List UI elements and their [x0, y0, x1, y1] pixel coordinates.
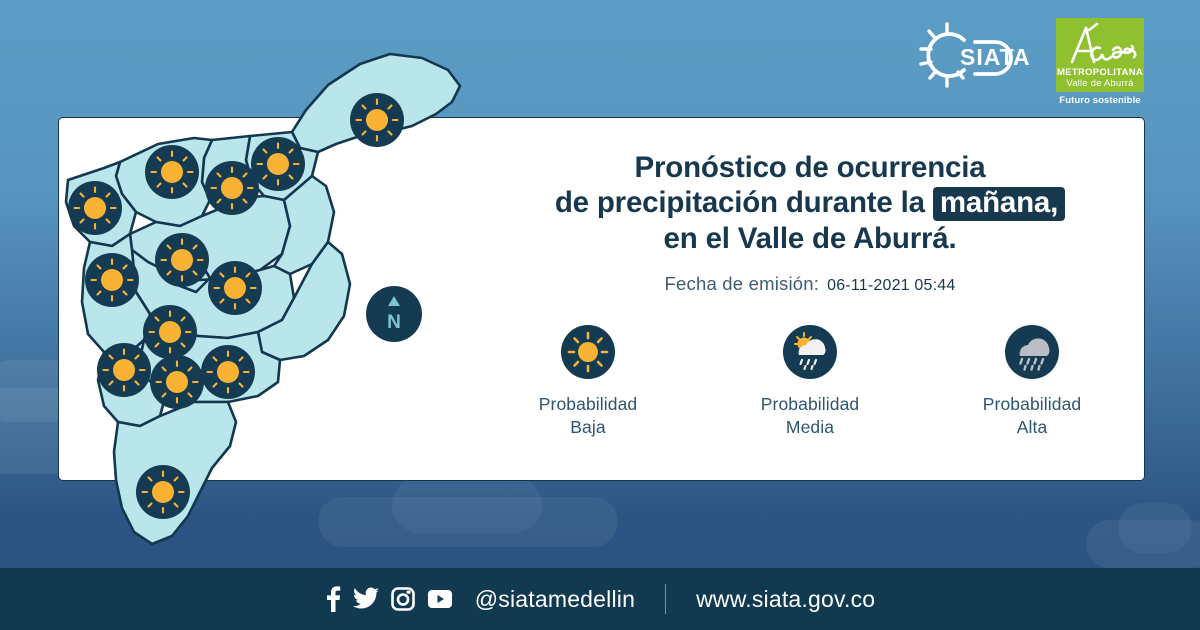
- legend-label-alta-line2: Alta: [983, 416, 1082, 439]
- legend-label-media-line2: Media: [761, 416, 860, 439]
- forecast-content: Pronóstico de ocurrencia de precipitació…: [500, 150, 1120, 439]
- footer-handle[interactable]: @siatamedellin: [475, 586, 635, 613]
- footer-url[interactable]: www.siata.gov.co: [696, 586, 875, 613]
- legend-item-alta: Probabilidad Alta: [957, 325, 1107, 439]
- emission-date-value: 06-11-2021 05:44: [827, 277, 955, 295]
- footer-divider: [665, 584, 666, 614]
- legend-item-baja: Probabilidad Baja: [513, 325, 663, 439]
- rain-cloud-icon: [1020, 338, 1050, 369]
- area-metropolitana-logo: METROPOLITANA Valle de Aburrá Futuro sos…: [1056, 18, 1144, 110]
- marker-medellin[interactable]: [143, 305, 197, 359]
- marker-envigado[interactable]: [208, 261, 262, 315]
- probability-legend: Probabilidad Baja: [500, 325, 1120, 439]
- legend-item-media: Probabilidad Media: [735, 325, 885, 439]
- background-cloud-bottom-right-top: [1118, 503, 1192, 553]
- marker-girardota[interactable]: [251, 137, 305, 191]
- background-cloud-bottom-right: [1086, 520, 1200, 568]
- am-tagline: Futuro sostenible: [1059, 95, 1140, 106]
- title-line-2: de precipitación durante la mañana,: [500, 185, 1120, 221]
- title-line-1: Pronóstico de ocurrencia: [500, 150, 1120, 185]
- marker-copacabana[interactable]: [205, 161, 259, 215]
- marker-barbosa[interactable]: [350, 93, 404, 147]
- page-title: Pronóstico de ocurrencia de precipitació…: [500, 150, 1120, 256]
- facebook-icon[interactable]: [325, 586, 341, 612]
- title-line-2-text: de precipitación durante la: [555, 186, 925, 219]
- legend-label-alta: Probabilidad Alta: [983, 393, 1082, 439]
- legend-icon-baja: [561, 325, 615, 379]
- am-green-box: METROPOLITANA Valle de Aburrá: [1056, 18, 1144, 92]
- youtube-icon[interactable]: [427, 589, 453, 609]
- legend-icon-alta: [1005, 325, 1059, 379]
- legend-label-alta-line1: Probabilidad: [983, 393, 1082, 416]
- marker-caldas[interactable]: [136, 465, 190, 519]
- title-line-3: en el Valle de Aburrá.: [500, 221, 1120, 256]
- marker-san-pedro[interactable]: [145, 145, 199, 199]
- title-highlight-manana: mañana,: [933, 187, 1065, 221]
- am-line2: Valle de Aburrá: [1066, 78, 1133, 89]
- sun-rain-cloud-icon: [795, 333, 826, 369]
- area-script-icon: [1056, 20, 1144, 70]
- logo-group: SIATA METROPOLITANA Valle de: [912, 18, 1144, 110]
- legend-label-media: Probabilidad Media: [761, 393, 860, 439]
- infographic-canvas: SIATA METROPOLITANA Valle de: [0, 0, 1200, 630]
- compass-label: N: [387, 312, 401, 333]
- legend-label-media-line1: Probabilidad: [761, 393, 860, 416]
- marker-sabaneta[interactable]: [150, 355, 204, 409]
- marker-west[interactable]: [68, 181, 122, 235]
- sun-icon: [569, 333, 607, 371]
- emission-date-row: Fecha de emisión: 06-11-2021 05:44: [500, 273, 1120, 295]
- compass-badge: N: [366, 286, 422, 342]
- valle-de-aburra-map: N: [60, 40, 480, 580]
- legend-label-baja-line2: Baja: [539, 416, 638, 439]
- marker-bello[interactable]: [155, 233, 209, 287]
- twitter-icon[interactable]: [353, 587, 379, 611]
- legend-label-baja-line1: Probabilidad: [539, 393, 638, 416]
- social-icons: [325, 586, 453, 612]
- legend-label-baja: Probabilidad Baja: [539, 393, 638, 439]
- emission-date-label: Fecha de emisión:: [665, 273, 820, 295]
- footer-bar: @siatamedellin www.siata.gov.co: [0, 568, 1200, 630]
- marker-la-estrella[interactable]: [97, 343, 151, 397]
- legend-icon-media: [783, 325, 837, 379]
- instagram-icon[interactable]: [391, 587, 415, 611]
- siata-logo: SIATA: [912, 18, 1042, 92]
- marker-itagui[interactable]: [201, 345, 255, 399]
- marker-west-lower[interactable]: [85, 253, 139, 307]
- siata-wordmark: SIATA: [960, 44, 1031, 70]
